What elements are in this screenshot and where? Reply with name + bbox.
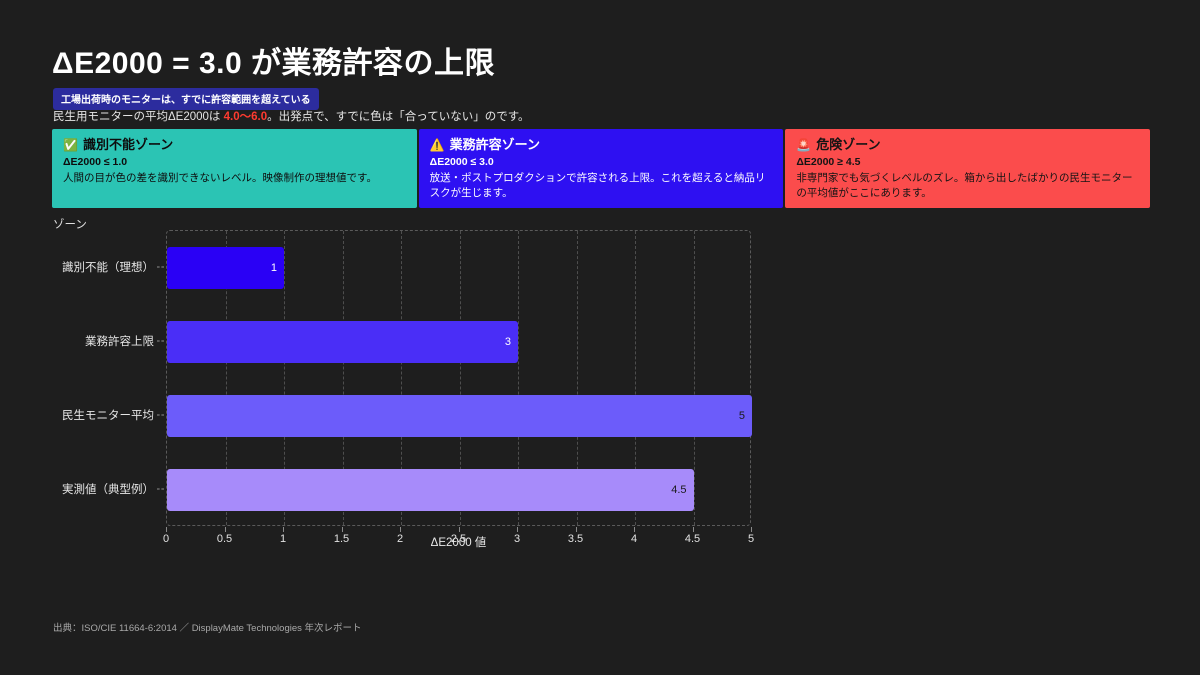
x-axis-tick xyxy=(576,527,577,532)
x-axis-title: ΔE2000 値 xyxy=(166,534,751,550)
zone-card-metric: ΔE2000 ≤ 1.0 xyxy=(63,156,406,168)
bar-value-label: 3 xyxy=(505,336,518,348)
zone-card-danger[interactable]: 🚨 危険ゾーン ΔE2000 ≥ 4.5 非専門家でも気づくレベルのズレ。箱から… xyxy=(785,129,1150,208)
zone-card-heading: 🚨 危険ゾーン xyxy=(796,137,1139,153)
slide-root: ΔE2000 = 3.0 が業務許容の上限 工場出荷時のモニターは、すでに許容範… xyxy=(0,0,1200,675)
zone-card-description: 放送・ポストプロダクションで許容される上限。これを超えると納品リスクが生じます。 xyxy=(430,171,773,201)
zone-card-metric: ΔE2000 ≤ 3.0 xyxy=(430,156,773,168)
y-axis-tick xyxy=(157,267,164,268)
zone-card-indistinguishable[interactable]: ✅ 識別不能ゾーン ΔE2000 ≤ 1.0 人間の目が色の差を識別できないレベ… xyxy=(52,129,417,208)
y-axis-tick xyxy=(157,415,164,416)
zone-card-heading: ⚠️ 業務許容ゾーン xyxy=(430,137,773,153)
y-axis-category-label: 業務許容上限 xyxy=(0,333,154,349)
zone-card-title: 業務許容ゾーン xyxy=(450,137,540,153)
check-mark-icon: ✅ xyxy=(63,139,78,151)
source-note: 出典：ISO/CIE 11664-6:2014 ／ DisplayMate Te… xyxy=(53,620,362,634)
x-axis-tick xyxy=(517,527,518,532)
subtitle-badge: 工場出荷時のモニターは、すでに許容範囲を超えている xyxy=(53,88,319,110)
bar-row: 4.5 xyxy=(167,469,752,511)
bar[interactable]: 1 xyxy=(167,247,284,289)
bar-row: 1 xyxy=(167,247,752,289)
zone-card-list: ✅ 識別不能ゾーン ΔE2000 ≤ 1.0 人間の目が色の差を識別できないレベ… xyxy=(52,129,1150,208)
x-axis-tick xyxy=(225,527,226,532)
x-axis-tick xyxy=(459,527,460,532)
bar[interactable]: 5 xyxy=(167,395,752,437)
lede-after: 。出発点で、すでに色は「合っていない」のです。 xyxy=(267,111,529,123)
zone-card-description: 人間の目が色の差を識別できないレベル。映像制作の理想値です。 xyxy=(63,171,406,186)
bar[interactable]: 4.5 xyxy=(167,469,694,511)
bar-value-label: 1 xyxy=(271,262,284,274)
x-axis-tick xyxy=(693,527,694,532)
y-axis-category-label: 民生モニター平均 xyxy=(0,407,154,423)
x-axis-tick xyxy=(400,527,401,532)
x-axis-tick xyxy=(634,527,635,532)
y-axis-tick xyxy=(157,489,164,490)
zone-card-description: 非専門家でも気づくレベルのズレ。箱から出したばかりの民生モニターの平均値がここに… xyxy=(796,171,1139,201)
lede-text: 民生用モニターの平均ΔE2000は 4.0〜6.0。出発点で、すでに色は「合って… xyxy=(53,108,530,124)
zone-card-title: 危険ゾーン xyxy=(816,137,880,153)
zone-card-title: 識別不能ゾーン xyxy=(83,137,173,153)
y-axis-title: ゾーン xyxy=(53,216,87,232)
zone-card-metric: ΔE2000 ≥ 4.5 xyxy=(796,156,1139,168)
bar-row: 5 xyxy=(167,395,752,437)
lede-before: 民生用モニターの平均ΔE2000は xyxy=(53,111,224,123)
y-axis-category-label: 実測値（典型例） xyxy=(0,481,154,497)
zone-card-professional-tolerance[interactable]: ⚠️ 業務許容ゾーン ΔE2000 ≤ 3.0 放送・ポストプロダクションで許容… xyxy=(419,129,784,208)
bar-chart: ゾーン 1354.5 00.511.522.533.544.55識別不能（理想）… xyxy=(0,208,1200,568)
bar[interactable]: 3 xyxy=(167,321,518,363)
bar-row: 3 xyxy=(167,321,752,363)
x-axis-tick xyxy=(166,527,167,532)
bar-value-label: 5 xyxy=(739,410,752,422)
page-title: ΔE2000 = 3.0 が業務許容の上限 xyxy=(52,38,495,82)
plot-area: 1354.5 xyxy=(166,230,751,526)
alarm-light-icon: 🚨 xyxy=(796,139,811,151)
lede-highlight: 4.0〜6.0 xyxy=(224,111,267,123)
bar-value-label: 4.5 xyxy=(671,484,693,496)
y-axis-tick xyxy=(157,341,164,342)
x-axis-tick xyxy=(283,527,284,532)
zone-card-heading: ✅ 識別不能ゾーン xyxy=(63,137,406,153)
x-axis-tick xyxy=(342,527,343,532)
x-axis-tick xyxy=(751,527,752,532)
y-axis-category-label: 識別不能（理想） xyxy=(0,259,154,275)
warning-triangle-icon: ⚠️ xyxy=(430,139,445,151)
